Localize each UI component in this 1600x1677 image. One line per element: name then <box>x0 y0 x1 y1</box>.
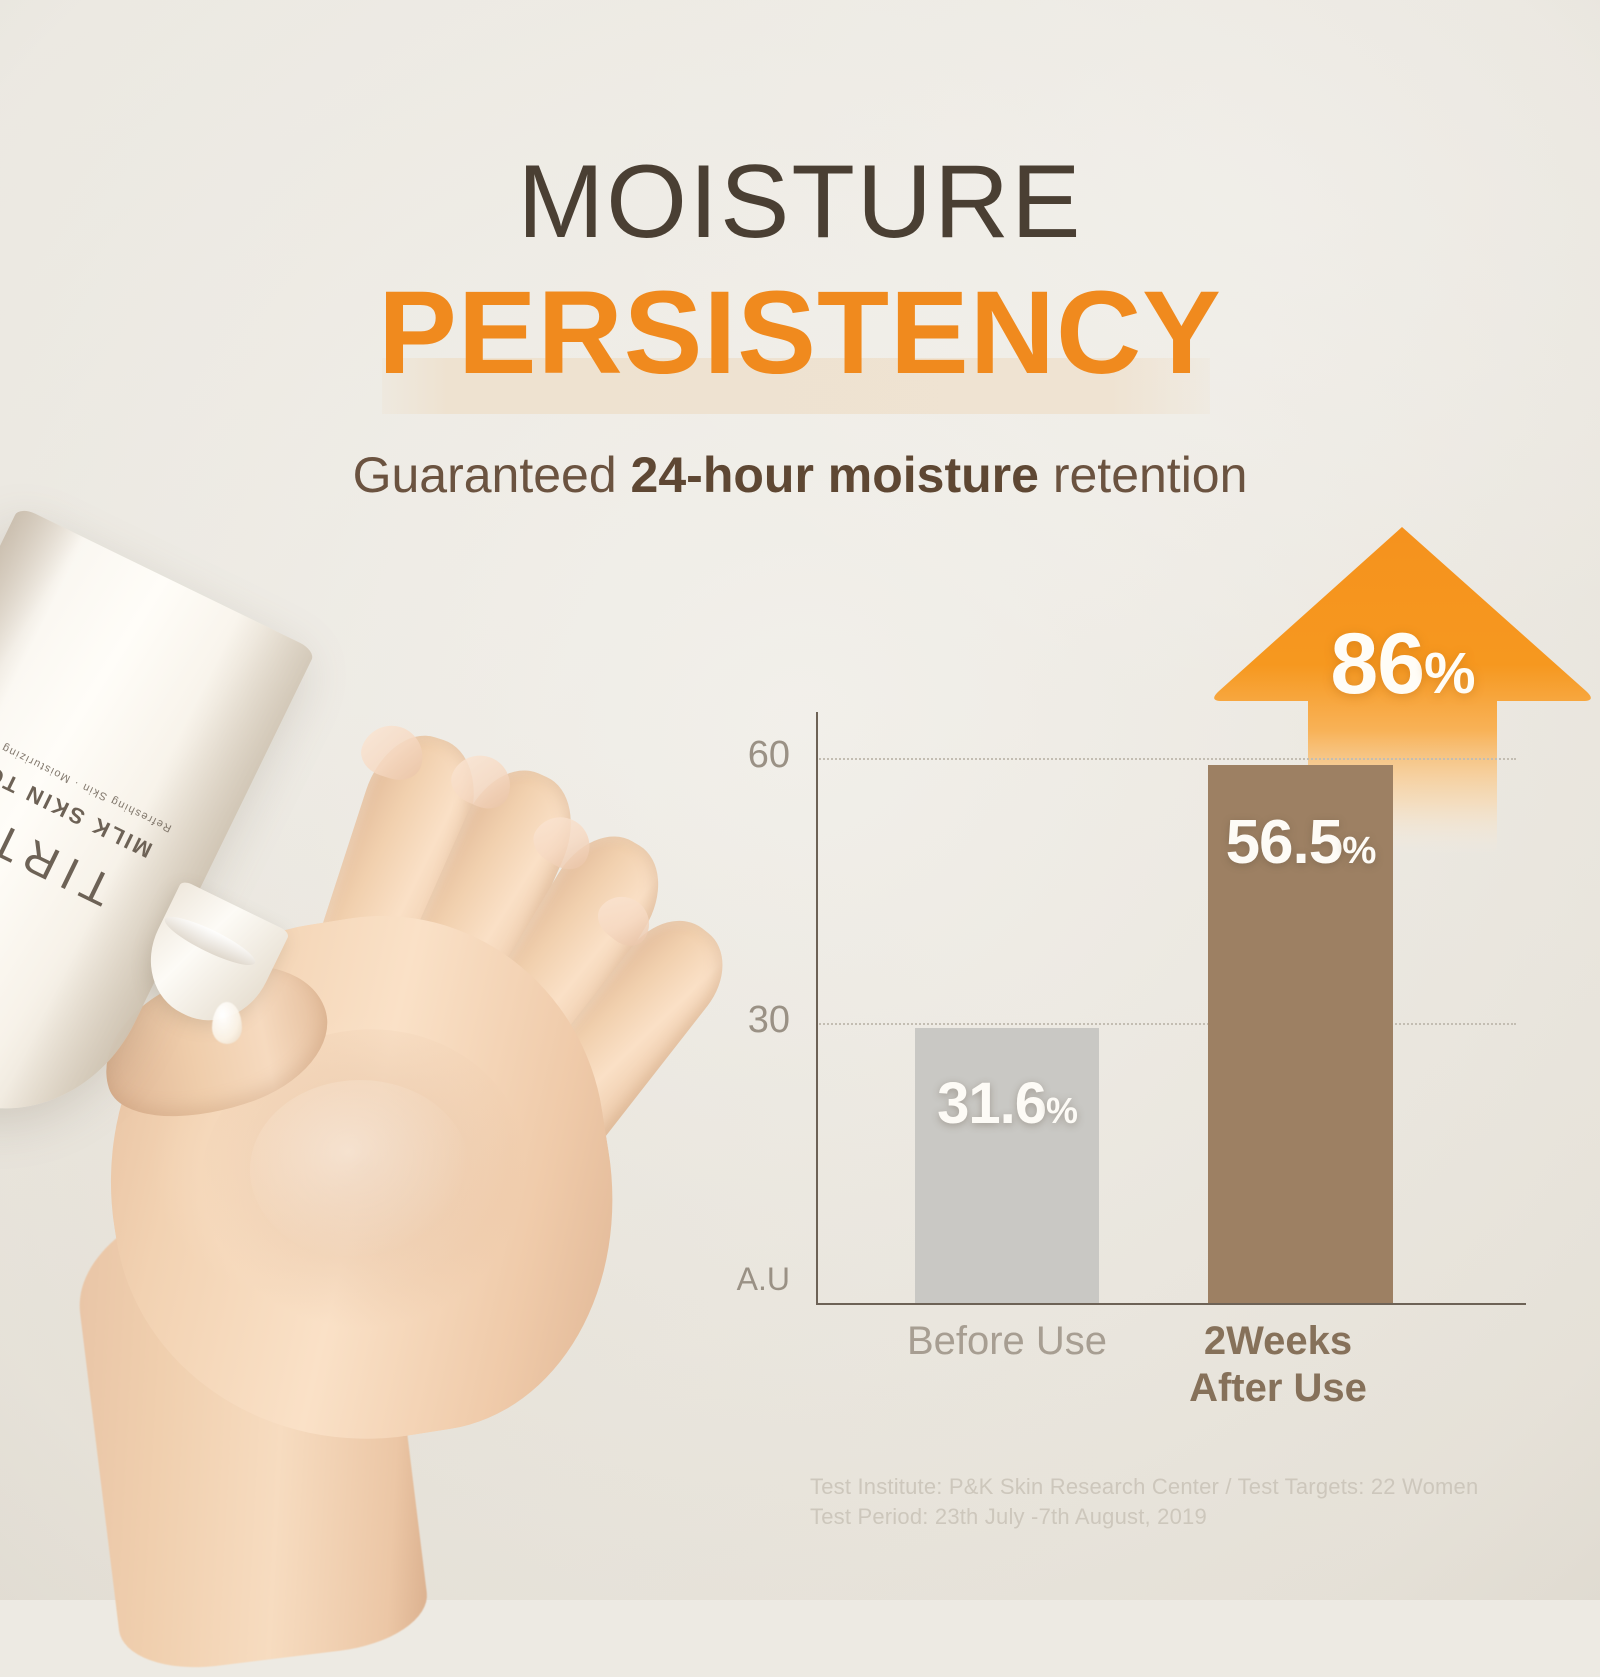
study-footnote: Test Institute: P&K Skin Research Center… <box>810 1472 1570 1531</box>
subtitle-emphasis: 24-hour moisture <box>631 447 1039 503</box>
headline-line-2: PERSISTENCY <box>0 274 1600 392</box>
x-label-after-use: 2Weeks After Use <box>1148 1318 1408 1412</box>
bar-after-use: 56.5% <box>1208 765 1393 1303</box>
x-axis-line <box>816 1303 1526 1305</box>
palm-highlight <box>250 1080 470 1260</box>
y-axis-unit-label: A.U <box>700 1261 790 1298</box>
footnote-line-2: Test Period: 23th July -7th August, 2019 <box>810 1502 1570 1532</box>
x-label-after-line2: After Use <box>1148 1365 1408 1412</box>
bar-value-before-use: 31.6% <box>915 1070 1099 1137</box>
bar-before-use: 31.6% <box>915 1028 1099 1303</box>
gridline-60 <box>816 758 1516 760</box>
subtitle: Guaranteed 24-hour moisture retention <box>0 448 1600 503</box>
gridline-30 <box>816 1023 1516 1025</box>
bar-value-after-number: 56.5 <box>1226 808 1343 877</box>
bar-value-after-use: 56.5% <box>1208 807 1393 878</box>
x-label-after-line1: 2Weeks <box>1148 1318 1408 1365</box>
y-tick-label-30: 30 <box>700 999 790 1042</box>
footnote-line-1: Test Institute: P&K Skin Research Center… <box>810 1472 1570 1502</box>
bar-value-after-unit: % <box>1342 829 1375 872</box>
subtitle-suffix: retention <box>1039 447 1247 503</box>
subtitle-prefix: Guaranteed <box>353 447 631 503</box>
x-label-before-use: Before Use <box>877 1318 1137 1365</box>
bar-value-before-number: 31.6 <box>937 1071 1046 1136</box>
bar-value-before-unit: % <box>1046 1090 1077 1131</box>
moisture-bar-chart: 60 30 A.U 31.6% 56.5% Before Use 2Weeks … <box>700 690 1530 1330</box>
headline-line-1: MOISTURE <box>0 150 1600 254</box>
y-tick-label-60: 60 <box>700 734 790 777</box>
y-axis-line <box>816 712 818 1303</box>
